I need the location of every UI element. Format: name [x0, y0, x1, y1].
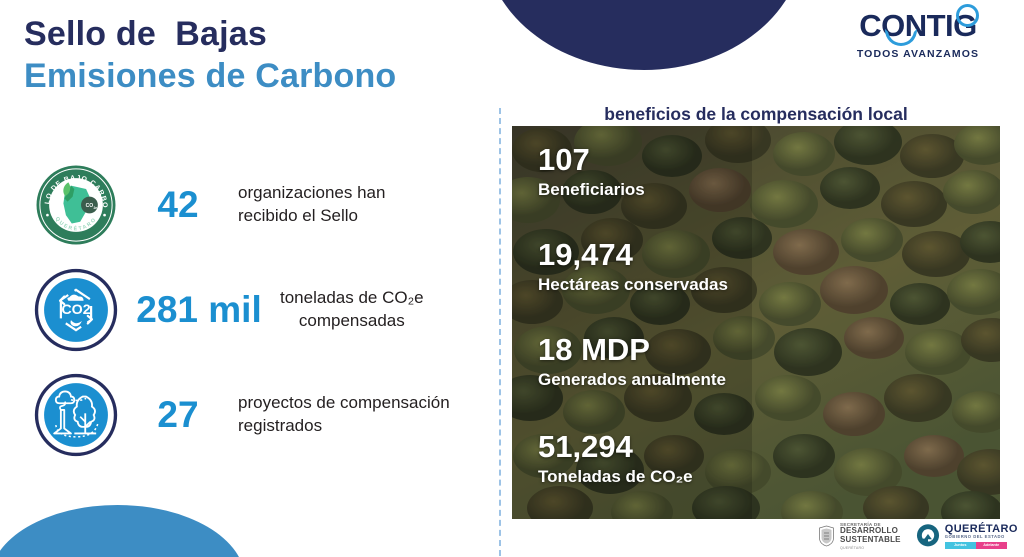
right-stat-number: 51,294	[538, 431, 693, 464]
stat-label-organizaciones: organizaciones han recibido el Sello	[238, 182, 385, 227]
stat-label-line2: registrados	[238, 415, 450, 437]
co2-recycle-icon: CO2	[28, 268, 124, 352]
stat-label-line2: compensadas	[280, 310, 424, 332]
stat-number-organizaciones: 42	[124, 186, 232, 223]
stat-label-line1: organizaciones han	[238, 182, 385, 204]
stat-number-toneladas: 281 mil	[124, 291, 274, 328]
stat-label-proyectos: proyectos de compensación registrados	[238, 392, 450, 437]
page-title-line2: Emisiones de Carbono	[24, 56, 474, 96]
right-stats-list: 107 Beneficiarios 19,474 Hectáreas conse…	[512, 126, 1000, 519]
factory-forest-icon	[28, 373, 124, 457]
sds-text-block: SECRETARÍA DE DESARROLLO SUSTENTABLE QUE…	[840, 522, 901, 550]
co2-recycle-svg: CO2	[34, 268, 118, 352]
slogan-segment-left: Juntos	[945, 542, 976, 549]
factory-forest-svg	[34, 373, 118, 457]
right-stat-hectareas: 19,474 Hectáreas conservadas	[538, 239, 728, 295]
contigo-logo: CONTIG TODOS AVANZAMOS	[838, 10, 998, 60]
left-stats-list: SELLO DE BAJO CARBONO QUERÉTARO CO 2e 42	[28, 152, 488, 467]
contigo-o-ring-icon	[956, 4, 979, 27]
footer-logos: SECRETARÍA DE DESARROLLO SUSTENTABLE QUE…	[818, 522, 1018, 550]
right-stat-label: Generados anualmente	[538, 370, 726, 390]
svg-text:CO2: CO2	[61, 302, 90, 318]
sds-line4: QUERÉTARO	[840, 546, 901, 550]
stat-label-toneladas: toneladas de CO₂e compensadas	[280, 287, 424, 332]
right-stat-label: Toneladas de CO₂e	[538, 467, 693, 487]
vertical-dashed-divider	[499, 108, 501, 556]
queretaro-text-block: QUERÉTARO GOBIERNO DEL ESTADO Juntos Ade…	[945, 523, 1018, 549]
right-stat-label: Hectáreas conservadas	[538, 275, 728, 295]
stat-label-line1: proyectos de compensación	[238, 392, 450, 414]
queretaro-line2: GOBIERNO DEL ESTADO	[945, 535, 1018, 540]
right-panel-heading: beneficios de la compensación local	[512, 104, 1000, 125]
queretaro-q-icon	[915, 523, 941, 549]
contigo-wordmark: CONTIG	[859, 10, 977, 41]
stat-label-line1: toneladas de CO₂e	[280, 287, 424, 309]
right-stat-toneladas: 51,294 Toneladas de CO₂e	[538, 431, 693, 487]
stat-row-organizaciones: SELLO DE BAJO CARBONO QUERÉTARO CO 2e 42	[28, 152, 488, 257]
contigo-swoosh-icon	[885, 29, 917, 46]
top-navy-arc-decoration	[484, 0, 804, 70]
low-carbon-seal-icon: SELLO DE BAJO CARBONO QUERÉTARO CO 2e	[28, 163, 124, 247]
queretaro-government-logo: QUERÉTARO GOBIERNO DEL ESTADO Juntos Ade…	[915, 523, 1018, 549]
bottom-blue-arc-decoration	[0, 505, 245, 557]
right-stat-label: Beneficiarios	[538, 180, 645, 200]
page-title: Sello de Bajas Emisiones de Carbono	[24, 14, 474, 96]
right-stat-number: 19,474	[538, 239, 728, 272]
page-title-line1: Sello de Bajas	[24, 14, 474, 54]
right-stat-number: 18 MDP	[538, 334, 726, 367]
secretaria-desarrollo-sustentable-logo: SECRETARÍA DE DESARROLLO SUSTENTABLE QUE…	[818, 522, 901, 550]
sds-line3: SUSTENTABLE	[840, 536, 901, 545]
slogan-segment-right: Adelante	[976, 542, 1007, 549]
stat-label-line2: recibido el Sello	[238, 205, 385, 227]
stat-row-proyectos: 27 proyectos de compensación registrados	[28, 362, 488, 467]
right-stat-beneficiarios: 107 Beneficiarios	[538, 144, 645, 200]
svg-text:CO: CO	[86, 203, 94, 209]
svg-text:2e: 2e	[93, 205, 97, 209]
right-stat-number: 107	[538, 144, 645, 177]
low-carbon-seal-svg: SELLO DE BAJO CARBONO QUERÉTARO CO 2e	[34, 163, 118, 247]
contigo-tagline: TODOS AVANZAMOS	[838, 48, 998, 60]
slide-root: Sello de Bajas Emisiones de Carbono CONT…	[0, 0, 1024, 557]
coat-of-arms-icon	[818, 525, 835, 547]
right-stat-mdp: 18 MDP Generados anualmente	[538, 334, 726, 390]
stat-number-proyectos: 27	[124, 396, 232, 433]
stat-row-toneladas: CO2 281 mil toneladas de CO₂e compensada…	[28, 257, 488, 362]
queretaro-slogan-bar: Juntos Adelante	[945, 542, 1007, 549]
